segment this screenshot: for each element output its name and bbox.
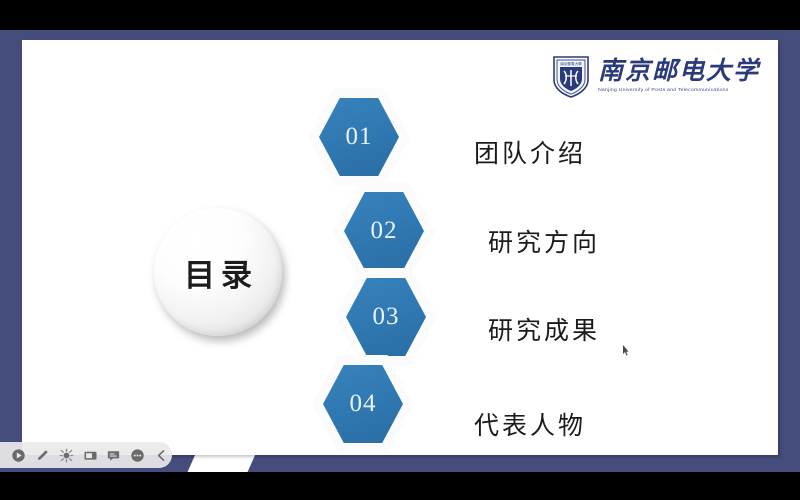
nupt-crest-icon: 南京郵電大學 [551, 54, 591, 98]
pointer-options-icon[interactable] [8, 445, 29, 466]
slideshow-stage: 南京郵電大學 南京邮电大学 Nanjing University of Post… [0, 30, 800, 472]
all-slides-icon[interactable] [80, 445, 101, 466]
university-name-cn: 南京邮电大学 [598, 59, 760, 84]
table-of-contents-badge: 目录 [154, 208, 282, 336]
agenda-number: 01 [346, 123, 373, 151]
slide-canvas[interactable]: 南京郵電大學 南京邮电大学 Nanjing University of Post… [22, 40, 778, 455]
agenda-label-03[interactable]: 研究成果 [488, 311, 600, 347]
presentation-screen: 南京郵電大學 南京邮电大学 Nanjing University of Post… [0, 0, 800, 500]
presenter-toolbar[interactable] [0, 442, 172, 468]
agenda-number: 04 [350, 390, 377, 418]
subtitles-icon[interactable] [103, 445, 124, 466]
agenda-hexagon-02[interactable]: 02 [333, 182, 435, 280]
svg-text:南京郵電大學: 南京郵電大學 [560, 61, 582, 66]
university-logo-text: 南京邮电大学 Nanjing University of Posts and T… [598, 59, 760, 93]
table-of-contents-label: 目录 [178, 250, 258, 295]
more-options-icon[interactable] [127, 445, 148, 466]
text-cursor [622, 343, 629, 354]
agenda-hexagon-04[interactable]: 04 [312, 355, 414, 453]
laser-pointer-icon[interactable] [56, 445, 77, 466]
university-logo: 南京郵電大學 南京邮电大学 Nanjing University of Post… [551, 54, 760, 98]
agenda-number: 02 [371, 217, 398, 245]
agenda-number: 03 [373, 303, 400, 331]
agenda-label-01[interactable]: 团队介绍 [474, 134, 586, 170]
pen-icon[interactable] [32, 445, 53, 466]
previous-slide-icon[interactable] [151, 445, 172, 466]
agenda-hexagon-01[interactable]: 01 [308, 88, 410, 186]
university-name-en: Nanjing University of Posts and Telecomm… [598, 88, 760, 93]
agenda-hexagon-03[interactable]: 03 [335, 268, 437, 366]
agenda-label-04[interactable]: 代表人物 [474, 406, 586, 442]
agenda-label-02[interactable]: 研究方向 [488, 223, 600, 259]
